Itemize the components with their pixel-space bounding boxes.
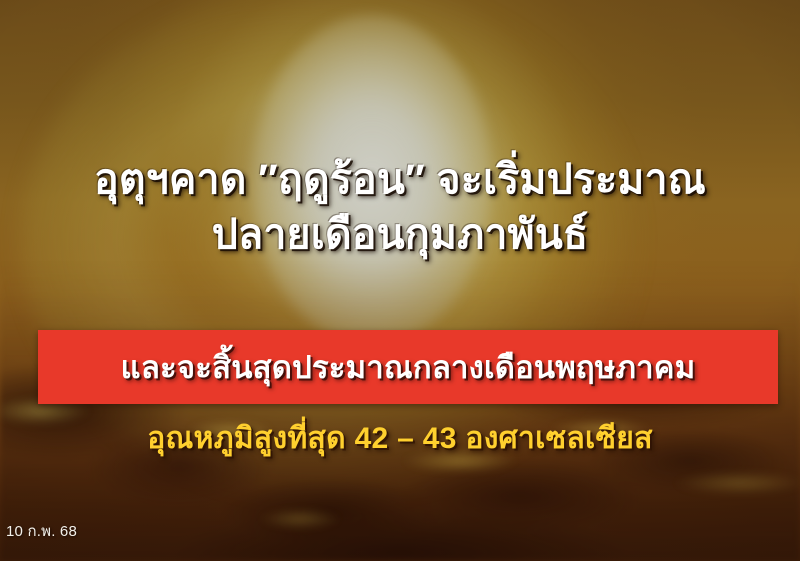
poster-content: อุตุฯคาด ″ฤดูร้อน″ จะเริ่มประมาณ ปลายเดื… — [0, 0, 800, 561]
headline-line-1: อุตุฯคาด ″ฤดูร้อน″ จะเริ่มประมาณ — [94, 156, 706, 202]
weather-infographic-poster: อุตุฯคาด ″ฤดูร้อน″ จะเริ่มประมาณ ปลายเดื… — [0, 0, 800, 561]
headline-line-2: ปลายเดือนกุมภาพันธ์ — [0, 207, 800, 262]
red-banner-text: และจะสิ้นสุดประมาณกลางเดือนพฤษภาคม — [121, 342, 696, 392]
red-banner: และจะสิ้นสุดประมาณกลางเดือนพฤษภาคม — [38, 330, 778, 404]
date-stamp: 10 ก.พ. 68 — [6, 519, 77, 543]
temperature-line: อุณหภูมิสูงที่สุด 42 – 43 องศาเซลเซียส — [0, 415, 800, 462]
headline: อุตุฯคาด ″ฤดูร้อน″ จะเริ่มประมาณ ปลายเดื… — [0, 152, 800, 263]
